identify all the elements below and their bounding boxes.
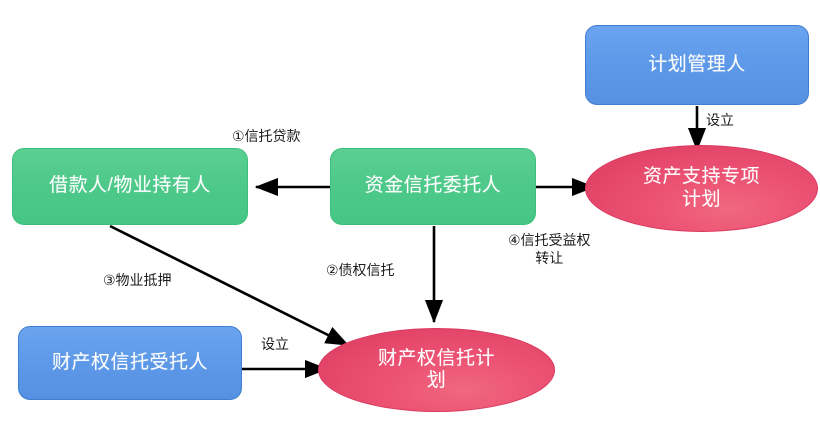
edge-label-property-mortgage: ③物业抵押 [103, 272, 172, 290]
node-property-trust-plan[interactable]: 财产权信托计划 [318, 328, 555, 412]
node-abs-special-plan-label: 资产支持专项计划 [643, 166, 761, 211]
node-plan-manager-label: 计划管理人 [586, 54, 808, 76]
node-abs-special-plan[interactable]: 资产支持专项计划 [585, 145, 818, 232]
node-property-trust-trustee[interactable]: 财产权信托受托人 [18, 326, 242, 400]
node-property-trust-trustee-label: 财产权信托受托人 [19, 352, 241, 374]
node-fund-trust-settlor-label: 资金信托委托人 [331, 175, 535, 197]
node-borrower-label: 借款人/物业持有人 [13, 175, 247, 197]
edge-label-creditor-rights-trust: ②债权信托 [326, 262, 395, 280]
node-plan-manager[interactable]: 计划管理人 [585, 25, 809, 105]
node-borrower[interactable]: 借款人/物业持有人 [12, 148, 248, 225]
node-property-trust-plan-label: 财产权信托计划 [376, 348, 498, 393]
edge-label-establish-abs-plan: 设立 [706, 112, 734, 130]
edge-label-trust-loan: ①信托贷款 [232, 128, 301, 146]
edge-label-beneficiary-rights-transfer: ④信托受益权 转让 [508, 232, 591, 267]
edge-label-establish-property-trust-plan: 设立 [261, 336, 289, 354]
node-fund-trust-settlor[interactable]: 资金信托委托人 [330, 148, 536, 225]
